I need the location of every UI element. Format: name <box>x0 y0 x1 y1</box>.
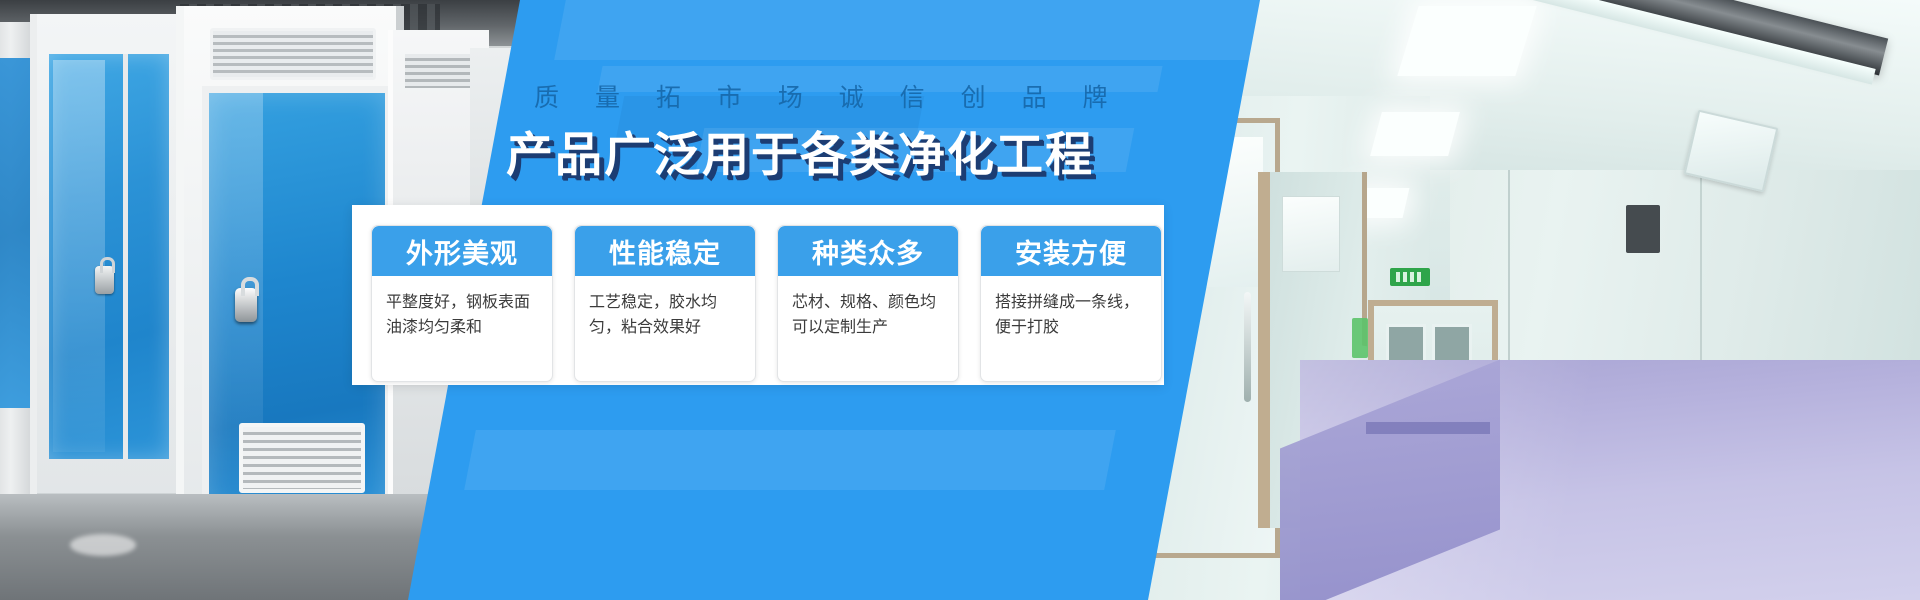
feature-card-title: 外形美观 <box>372 226 552 276</box>
right-cleanroom-photo <box>1130 0 1920 600</box>
door-2-handle <box>1244 292 1251 402</box>
wall-green-panel <box>1352 318 1368 358</box>
feature-card-body: 芯材、规格、颜色均可以定制生产 <box>778 276 958 381</box>
feature-card-list: 外形美观 平整度好，钢板表面油漆均匀柔和 性能稳定 工艺稳定，胶水均匀，粘合效果… <box>371 225 1162 382</box>
wall-speaker-box <box>1626 205 1660 253</box>
feature-card[interactable]: 性能稳定 工艺稳定，胶水均匀，粘合效果好 <box>574 225 756 382</box>
ceiling-light-panel-1 <box>1397 6 1536 76</box>
door-louver-vent <box>239 423 365 493</box>
panel-streak-4 <box>464 430 1116 490</box>
feature-card-title: 种类众多 <box>778 226 958 276</box>
door-handle-lock <box>235 288 257 322</box>
feature-card-body: 搭接拼缝成一条线，便于打胶 <box>981 276 1161 381</box>
feature-card-title: 安装方便 <box>981 226 1161 276</box>
feature-card[interactable]: 外形美观 平整度好，钢板表面油漆均匀柔和 <box>371 225 553 382</box>
promo-banner: 质 量 拓 市 场 诚 信 创 品 牌 产品广泛用于各类净化工程 外形美观 平整… <box>0 0 1920 600</box>
feature-card-title: 性能稳定 <box>575 226 755 276</box>
cabin-left-glare <box>53 60 105 452</box>
ceiling-light-panel-2 <box>1370 112 1460 156</box>
cabin-top-vent <box>210 28 376 80</box>
feature-card-body: 平整度好，钢板表面油漆均匀柔和 <box>372 276 552 381</box>
feature-card-body: 工艺稳定，胶水均匀，粘合效果好 <box>575 276 755 381</box>
banner-headline: 产品广泛用于各类净化工程 <box>470 116 1130 185</box>
floor-highlight <box>70 534 136 556</box>
cabin-left-mullion <box>123 54 128 459</box>
door-2-notice <box>1282 196 1340 272</box>
floor-skirting <box>1366 422 1490 434</box>
exit-sign-icon <box>1390 268 1430 286</box>
cabin-left-lock <box>95 266 114 294</box>
feature-card[interactable]: 种类众多 芯材、规格、颜色均可以定制生产 <box>777 225 959 382</box>
panel-streak-1 <box>554 0 1266 60</box>
banner-subtitle: 质 量 拓 市 场 诚 信 创 品 牌 <box>520 78 1080 114</box>
feature-card[interactable]: 安装方便 搭接拼缝成一条线，便于打胶 <box>980 225 1162 382</box>
